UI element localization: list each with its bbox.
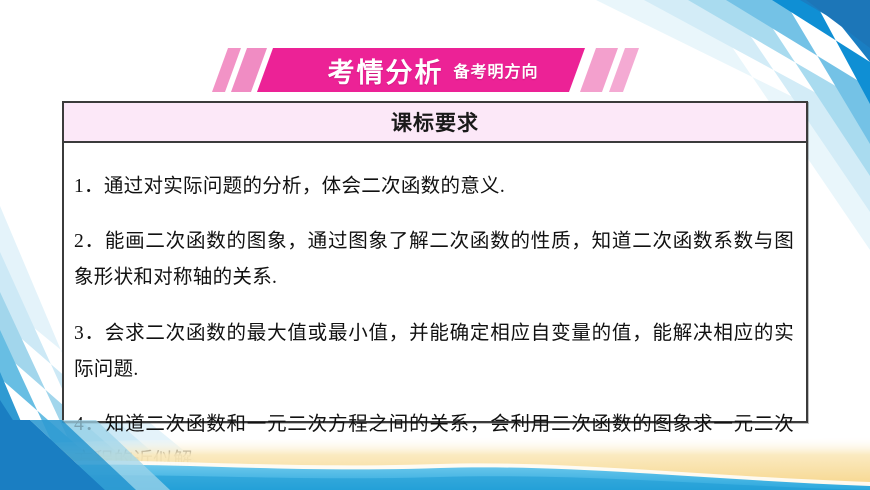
banner-text-group: 考情分析 备考明方向 — [278, 48, 588, 92]
curriculum-requirements-box: 课标要求 1．通过对实际问题的分析，体会二次函数的意义. 2．能画二次函数的图象… — [62, 101, 808, 423]
requirement-item: 1．通过对实际问题的分析，体会二次函数的意义. — [74, 169, 794, 205]
banner-title: 考情分析 — [327, 51, 443, 90]
ribbon-deep — [800, 0, 870, 62]
ribbon-deep-2 — [806, 0, 870, 48]
content-box-body: 1．通过对实际问题的分析，体会二次函数的意义. 2．能画二次函数的图象，通过图象… — [64, 143, 806, 479]
content-header-label: 课标要求 — [391, 107, 479, 137]
requirement-item: 4．知道二次函数和一元二次方程之间的关系，会利用二次函数的图象求一元二次方程的近… — [74, 407, 794, 479]
requirement-item: 2．能画二次函数的图象，通过图象了解二次函数的性质，知道二次函数系数与图象形状和… — [74, 224, 794, 296]
content-box-header: 课标要求 — [64, 103, 806, 143]
ribbon-bright — [772, 0, 870, 104]
title-banner: 考情分析 备考明方向 — [218, 48, 658, 92]
ribbon-deep — [0, 400, 58, 490]
requirement-item: 3．会求二次函数的最大值或最小值，并能确定相应自变量的值，能解决相应的实际问题. — [74, 316, 794, 388]
banner-subtitle: 备考明方向 — [453, 58, 538, 82]
slide-canvas: 考情分析 备考明方向 课标要求 1．通过对实际问题的分析，体会二次函数的意义. … — [0, 0, 870, 490]
